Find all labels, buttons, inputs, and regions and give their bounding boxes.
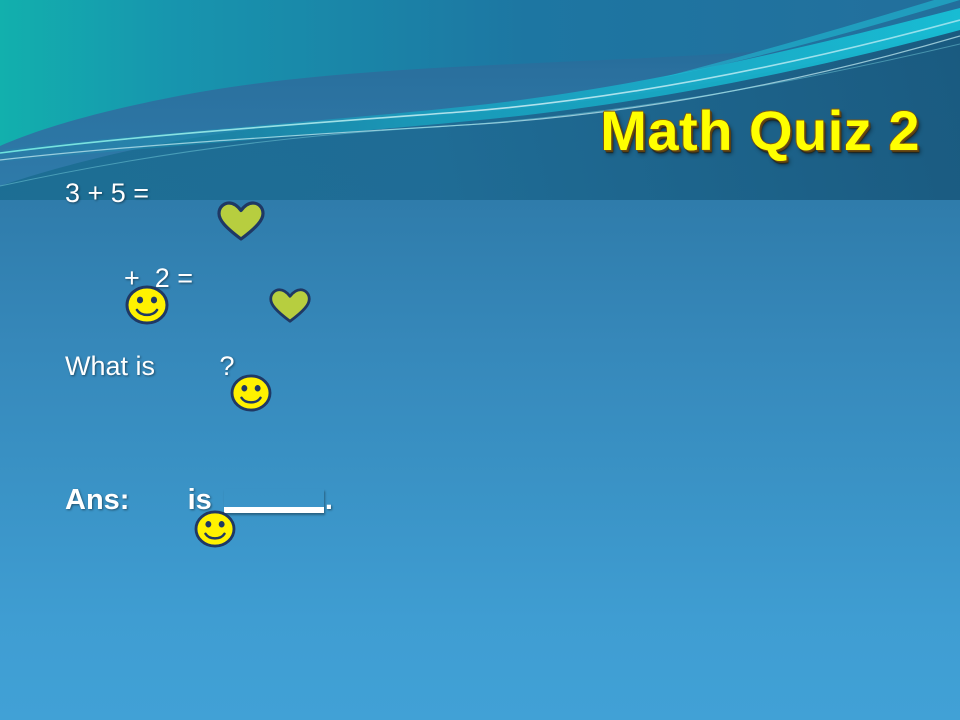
quiz-line-1-text: 3 + 5 = — [65, 180, 157, 207]
smiley-icon — [129, 481, 171, 519]
smiley-icon — [65, 258, 109, 298]
page-title: Math Quiz 2 — [0, 103, 920, 159]
slide-body: 3 + 5 = + 2 = — [65, 170, 895, 523]
quiz-line-3: What is ? — [65, 343, 895, 389]
answer-label: Ans: — [65, 486, 129, 515]
wave-cyan-ribbon-2 — [660, 0, 960, 78]
slide-canvas: Math Quiz 2 3 + 5 = + 2 = — [0, 0, 960, 720]
answer-period: . — [325, 486, 333, 515]
quiz-line-1: 3 + 5 = — [65, 170, 895, 216]
quiz-line-4-answer: Ans: is . — [65, 477, 895, 523]
heart-icon — [157, 174, 205, 212]
smiley-icon — [170, 347, 212, 385]
answer-blank-field[interactable] — [224, 489, 324, 513]
heart-icon — [208, 261, 252, 296]
